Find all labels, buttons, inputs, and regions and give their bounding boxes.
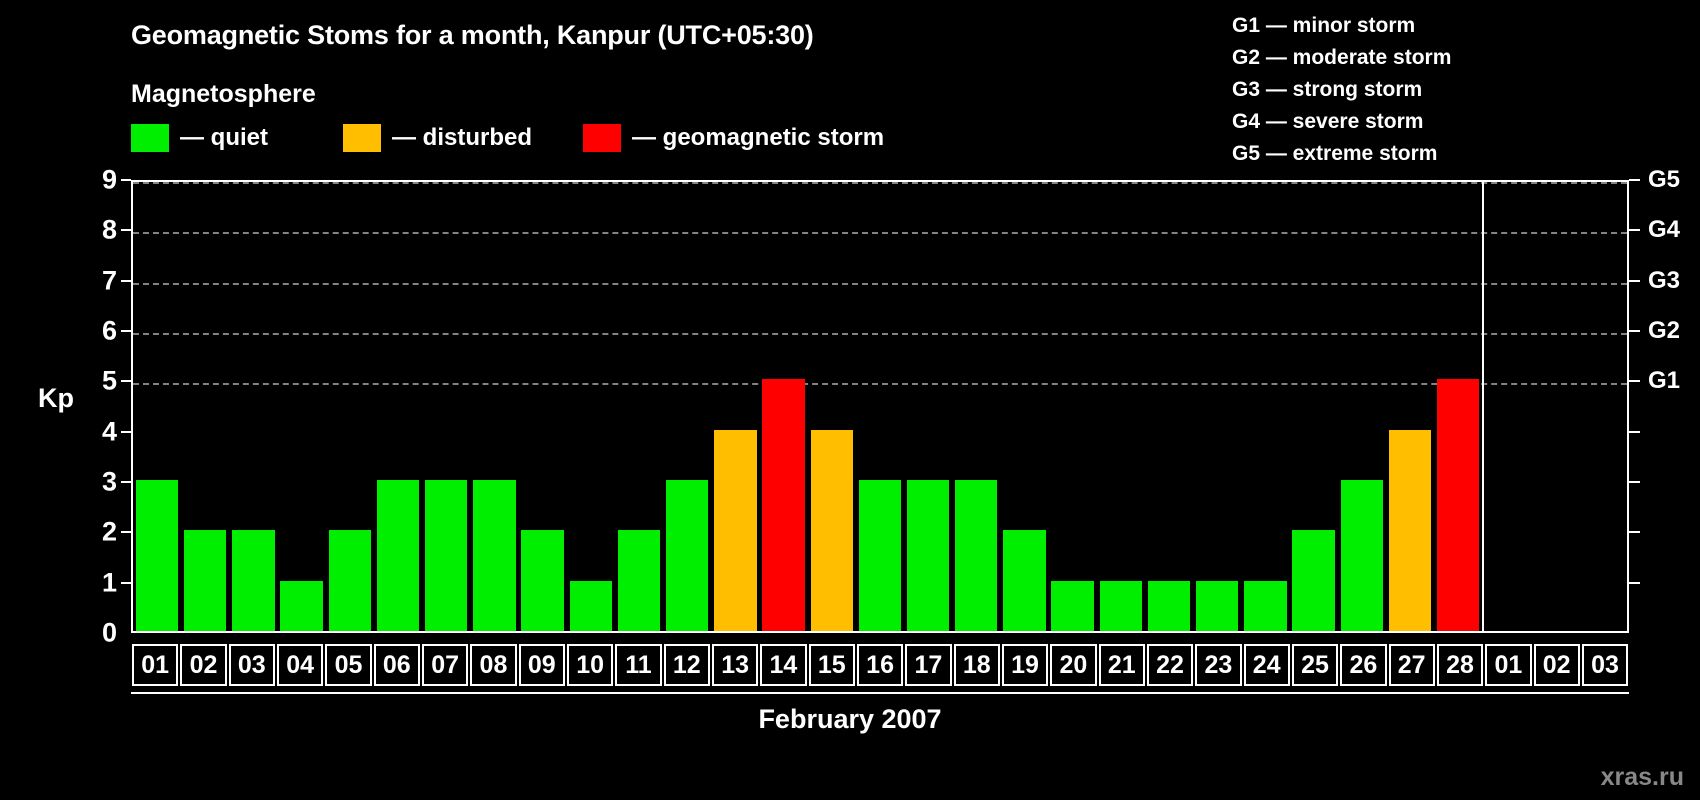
bar xyxy=(907,480,949,631)
legend-swatch-icon xyxy=(131,124,169,152)
bar-slot-03 xyxy=(229,182,277,631)
bar-slot-08 xyxy=(470,182,518,631)
bar-slot-24 xyxy=(1241,182,1289,631)
legend-item-1: — disturbed xyxy=(343,122,532,154)
y-tick-mark xyxy=(121,229,131,231)
storm-scale-line-4: G4 — severe storm xyxy=(1232,106,1451,138)
y-tick-9: 9 xyxy=(57,165,117,196)
bar-slot-01 xyxy=(133,182,181,631)
day-cell-01[interactable]: 01 xyxy=(132,644,178,686)
bar xyxy=(1292,530,1334,631)
bar-slot-14 xyxy=(759,182,807,631)
g-tick-mark xyxy=(1629,481,1640,483)
y-tick-mark xyxy=(121,330,131,332)
bar-slot-02 xyxy=(1530,182,1578,631)
x-axis-line xyxy=(131,692,1629,694)
g-tick-mark xyxy=(1629,380,1640,382)
y-tick-mark xyxy=(121,481,131,483)
bar-slot-15 xyxy=(808,182,856,631)
storm-scale-line-2: G2 — moderate storm xyxy=(1232,42,1451,74)
bar xyxy=(1389,430,1431,631)
bar xyxy=(280,581,322,631)
chart-canvas: Geomagnetic Stoms for a month, Kanpur (U… xyxy=(0,0,1700,800)
y-tick-6: 6 xyxy=(57,316,117,347)
bar xyxy=(859,480,901,631)
day-cell-22[interactable]: 22 xyxy=(1147,644,1193,686)
day-cell-04[interactable]: 04 xyxy=(277,644,323,686)
g-tick-G2: G2 xyxy=(1648,317,1680,345)
bar xyxy=(473,480,515,631)
bar-slot-12 xyxy=(663,182,711,631)
bar-slot-18 xyxy=(952,182,1000,631)
day-cell-11[interactable]: 11 xyxy=(615,644,661,686)
day-cell-18[interactable]: 18 xyxy=(954,644,1000,686)
bar xyxy=(521,530,563,631)
bar-slot-20 xyxy=(1049,182,1097,631)
bar xyxy=(1244,581,1286,631)
day-cell-08[interactable]: 08 xyxy=(470,644,516,686)
day-cell-25[interactable]: 25 xyxy=(1292,644,1338,686)
bar xyxy=(955,480,997,631)
bar-slot-26 xyxy=(1338,182,1386,631)
day-cell-23[interactable]: 23 xyxy=(1195,644,1241,686)
legend-swatch-icon xyxy=(583,124,621,152)
bar xyxy=(1341,480,1383,631)
day-cell-15[interactable]: 15 xyxy=(809,644,855,686)
bar xyxy=(811,430,853,631)
g-tick-G4: G4 xyxy=(1648,216,1680,244)
bar xyxy=(184,530,226,631)
storm-scale-line-3: G3 — strong storm xyxy=(1232,74,1451,106)
day-cell-03[interactable]: 03 xyxy=(229,644,275,686)
g-tick-mark xyxy=(1629,431,1640,433)
day-cell-24[interactable]: 24 xyxy=(1244,644,1290,686)
day-cell-21[interactable]: 21 xyxy=(1099,644,1145,686)
bar-slot-02 xyxy=(181,182,229,631)
g-tick-G5: G5 xyxy=(1648,166,1680,194)
bar xyxy=(136,480,178,631)
bar-slot-11 xyxy=(615,182,663,631)
plot-area xyxy=(131,180,1629,633)
legend-label: — quiet xyxy=(180,124,268,152)
y-tick-2: 2 xyxy=(57,517,117,548)
bar xyxy=(1437,379,1479,631)
g-tick-mark xyxy=(1629,280,1640,282)
bar-slot-04 xyxy=(278,182,326,631)
day-cell-17[interactable]: 17 xyxy=(905,644,951,686)
bar xyxy=(232,530,274,631)
bar-slot-05 xyxy=(326,182,374,631)
storm-scale-line-5: G5 — extreme storm xyxy=(1232,138,1451,170)
y-tick-0: 0 xyxy=(57,618,117,649)
y-tick-5: 5 xyxy=(57,366,117,397)
y-tick-3: 3 xyxy=(57,467,117,498)
bar xyxy=(1051,581,1093,631)
bar xyxy=(329,530,371,631)
bar-slot-22 xyxy=(1145,182,1193,631)
bar-slot-17 xyxy=(904,182,952,631)
legend-item-2: — geomagnetic storm xyxy=(583,122,884,154)
day-cell-26[interactable]: 26 xyxy=(1340,644,1386,686)
legend-swatch-icon xyxy=(343,124,381,152)
day-cell-16[interactable]: 16 xyxy=(857,644,903,686)
legend-label: — geomagnetic storm xyxy=(632,124,884,152)
y-tick-mark xyxy=(121,179,131,181)
bar-slot-06 xyxy=(374,182,422,631)
bar xyxy=(1003,530,1045,631)
legend-label: — disturbed xyxy=(392,124,532,152)
bar-slot-21 xyxy=(1097,182,1145,631)
page-title: Geomagnetic Stoms for a month, Kanpur (U… xyxy=(131,20,814,51)
bar xyxy=(425,480,467,631)
day-cell-05[interactable]: 05 xyxy=(325,644,371,686)
storm-scale-line-1: G1 — minor storm xyxy=(1232,10,1451,42)
g-tick-mark xyxy=(1629,330,1640,332)
bar xyxy=(714,430,756,631)
day-cell-14[interactable]: 14 xyxy=(760,644,806,686)
day-cell-13[interactable]: 13 xyxy=(712,644,758,686)
bar-slot-27 xyxy=(1386,182,1434,631)
bar-slot-28 xyxy=(1434,182,1482,631)
g-tick-G3: G3 xyxy=(1648,267,1680,295)
day-cell-02[interactable]: 02 xyxy=(1534,644,1580,686)
day-cell-10[interactable]: 10 xyxy=(567,644,613,686)
day-cell-02[interactable]: 02 xyxy=(180,644,226,686)
g-tick-mark xyxy=(1629,531,1640,533)
bar xyxy=(1148,581,1190,631)
day-cell-19[interactable]: 19 xyxy=(1002,644,1048,686)
bar-slot-16 xyxy=(856,182,904,631)
watermark: xras.ru xyxy=(1601,763,1684,792)
bar-slot-25 xyxy=(1290,182,1338,631)
y-tick-mark xyxy=(121,380,131,382)
y-tick-mark xyxy=(121,582,131,584)
bar xyxy=(618,530,660,631)
day-cell-06[interactable]: 06 xyxy=(374,644,420,686)
day-cell-28[interactable]: 28 xyxy=(1437,644,1483,686)
y-tick-1: 1 xyxy=(57,567,117,598)
day-cell-27[interactable]: 27 xyxy=(1389,644,1435,686)
legend-item-0: — quiet xyxy=(131,122,268,154)
bar-slot-07 xyxy=(422,182,470,631)
day-cell-01[interactable]: 01 xyxy=(1485,644,1531,686)
bar-slot-09 xyxy=(519,182,567,631)
g-tick-mark xyxy=(1629,179,1640,181)
x-axis-day-labels: 0102030405060708091011121314151617181920… xyxy=(131,644,1629,686)
y-tick-8: 8 xyxy=(57,215,117,246)
bar-slot-03 xyxy=(1579,182,1627,631)
legend-header: Magnetosphere xyxy=(131,80,316,109)
g-tick-mark xyxy=(1629,229,1640,231)
bar-slot-01 xyxy=(1482,182,1530,631)
y-tick-mark xyxy=(121,431,131,433)
bar-slot-13 xyxy=(711,182,759,631)
bar xyxy=(1196,581,1238,631)
bar-slot-19 xyxy=(1000,182,1048,631)
bar xyxy=(1100,581,1142,631)
bar xyxy=(377,480,419,631)
bar-series xyxy=(133,182,1627,631)
y-tick-mark xyxy=(121,531,131,533)
g-tick-mark xyxy=(1629,582,1640,584)
bar xyxy=(666,480,708,631)
bar-slot-10 xyxy=(567,182,615,631)
y-tick-mark xyxy=(121,280,131,282)
y-tick-7: 7 xyxy=(57,265,117,296)
bar xyxy=(570,581,612,631)
x-axis-caption: February 2007 xyxy=(0,704,1700,735)
day-cell-03[interactable]: 03 xyxy=(1582,644,1628,686)
month-separator xyxy=(1482,182,1484,631)
day-cell-07[interactable]: 07 xyxy=(422,644,468,686)
day-cell-20[interactable]: 20 xyxy=(1050,644,1096,686)
day-cell-09[interactable]: 09 xyxy=(519,644,565,686)
storm-scale-legend: G1 — minor stormG2 — moderate stormG3 — … xyxy=(1232,10,1451,170)
bar xyxy=(762,379,804,631)
day-cell-12[interactable]: 12 xyxy=(664,644,710,686)
bar-slot-23 xyxy=(1193,182,1241,631)
y-tick-4: 4 xyxy=(57,416,117,447)
g-tick-G1: G1 xyxy=(1648,367,1680,395)
